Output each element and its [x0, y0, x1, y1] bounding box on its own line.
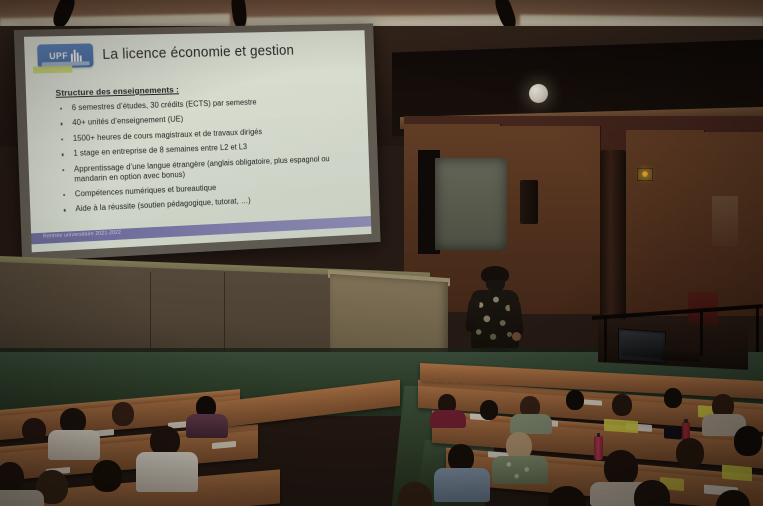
sphere-lamp-icon [529, 84, 548, 103]
audience-head [22, 418, 46, 442]
audience-head [676, 438, 704, 468]
audience-head [566, 390, 584, 410]
stage-wall-seam [150, 272, 151, 358]
audience-head [664, 388, 682, 408]
wall-pillar [600, 150, 626, 320]
wall-vent [520, 180, 538, 224]
presenter-hand [512, 332, 521, 341]
slide-bullet-list: 6 semestres d’études, 30 crédits (ECTS) … [56, 95, 360, 216]
audience-body [510, 414, 552, 434]
railing-post [700, 312, 703, 356]
audience-head [734, 426, 762, 456]
av-equipment-box [662, 347, 700, 362]
audience-head [480, 400, 498, 420]
stage-wall-seam [224, 272, 225, 358]
av-monitor [618, 328, 666, 363]
lecture-hall-screenshot: UPF La licence économie et gestion Struc… [0, 0, 763, 506]
audience-body [0, 490, 44, 506]
railing-post [756, 308, 759, 352]
audience-body [430, 410, 466, 428]
wall-light-panel [712, 196, 738, 246]
projection-screen: UPF La licence économie et gestion Struc… [14, 23, 381, 261]
yellow-notebook [722, 465, 752, 482]
water-bottle [594, 436, 603, 460]
slide-footer-text: Rentrée universitaire 2021-2022 [43, 230, 121, 240]
audience-body [136, 452, 198, 492]
audience-body [186, 414, 228, 438]
yellow-notebook [604, 419, 638, 433]
audience-body [434, 468, 490, 502]
av-monitor-screen [621, 332, 663, 359]
projected-slide: UPF La licence économie et gestion Struc… [24, 30, 372, 252]
amber-indicator-light [637, 168, 653, 181]
slide-body: Structure des enseignements : 6 semestre… [55, 80, 359, 221]
audience-head [634, 480, 670, 506]
audience-head [92, 460, 122, 492]
stage-door [435, 158, 507, 250]
audience-head [604, 450, 638, 486]
audience-head [612, 394, 632, 416]
audience-head [398, 482, 432, 506]
railing-post [604, 318, 607, 362]
audience-head [112, 402, 134, 426]
logo-highlight [33, 66, 72, 74]
audience-body [48, 430, 100, 460]
smartphone [664, 427, 682, 439]
wood-panel [626, 130, 705, 316]
audience-body [492, 456, 548, 484]
